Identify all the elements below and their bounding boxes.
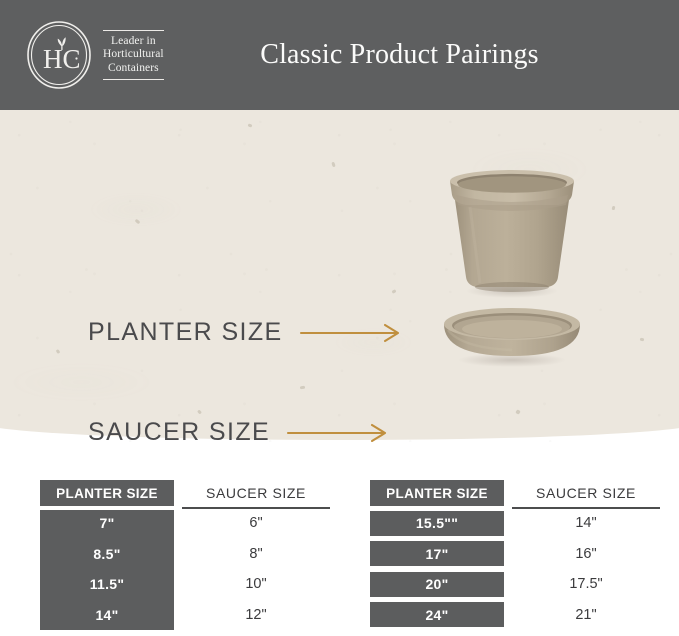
- tagline-line-2: Horticultural: [103, 48, 164, 62]
- cell-saucer-size: 8": [182, 546, 330, 562]
- table-row: 11.5" 10": [40, 569, 330, 600]
- tagline-line-1: Leader in: [103, 35, 164, 49]
- cell-saucer-size: 6": [182, 515, 330, 531]
- table-row: 17" 16": [370, 539, 660, 570]
- arrow-right-icon: [299, 322, 407, 344]
- cell-planter-size: 11.5": [40, 576, 174, 592]
- cell-planter-size: 17": [370, 546, 504, 562]
- saucer-dish-image: [432, 302, 592, 375]
- logo-oval-mark: HC: [24, 20, 94, 90]
- size-tables-section: PLANTER SIZE SAUCER SIZE 7" 6" 8.5" 8" 1…: [0, 442, 679, 636]
- cell-saucer-size: 12": [182, 607, 330, 623]
- cell-planter-size: 15.5"": [370, 515, 504, 531]
- product-pairings-infographic: HC Leader in Horticultural Containers Cl…: [0, 0, 679, 636]
- callout-label: SAUCER SIZE: [88, 418, 270, 442]
- cell-saucer-size: 10": [182, 576, 330, 592]
- brand-tagline: Leader in Horticultural Containers: [103, 30, 164, 81]
- column-header-planter-size: PLANTER SIZE: [370, 480, 504, 506]
- cell-planter-size: 14": [40, 607, 174, 623]
- tagline-line-3: Containers: [103, 62, 164, 76]
- hero-panel: PLANTER SIZE SAUCER SIZE: [0, 110, 679, 442]
- cell-saucer-size: 16": [512, 546, 660, 562]
- brand-logo: HC Leader in Horticultural Containers: [24, 20, 164, 90]
- arrow-right-icon: [286, 422, 394, 443]
- cell-planter-size: 20": [370, 576, 504, 592]
- table-row: 15.5"" 14": [370, 508, 660, 539]
- table-row: 24" 21": [370, 600, 660, 631]
- cell-saucer-size: 17.5": [512, 576, 660, 592]
- column-header-saucer-size: SAUCER SIZE: [512, 480, 660, 506]
- table-row: 14" 12": [40, 600, 330, 631]
- table-row: 7" 6": [40, 508, 330, 539]
- callout-saucer-size: SAUCER SIZE: [88, 418, 394, 442]
- planter-pot-image: [432, 165, 592, 305]
- table-row: 20" 17.5": [370, 569, 660, 600]
- hc-monogram-icon: HC: [24, 20, 94, 90]
- cell-planter-size: 24": [370, 607, 504, 623]
- cell-planter-size: 7": [40, 515, 174, 531]
- table-header-row: PLANTER SIZE SAUCER SIZE: [370, 480, 660, 508]
- header-bar: HC Leader in Horticultural Containers Cl…: [0, 0, 679, 110]
- callout-label: PLANTER SIZE: [88, 318, 283, 347]
- cell-saucer-size: 14": [512, 515, 660, 531]
- table-body: 15.5"" 14" 17" 16" 20" 17.5" 24" 21": [370, 508, 660, 630]
- callout-planter-size: PLANTER SIZE: [88, 318, 407, 347]
- size-table-small: PLANTER SIZE SAUCER SIZE 7" 6" 8.5" 8" 1…: [40, 480, 330, 630]
- cell-planter-size: 8.5": [40, 546, 174, 562]
- column-header-saucer-size: SAUCER SIZE: [182, 480, 330, 506]
- column-header-planter-size: PLANTER SIZE: [40, 480, 174, 506]
- size-table-large: PLANTER SIZE SAUCER SIZE 15.5"" 14" 17" …: [370, 480, 660, 630]
- cell-saucer-size: 21": [512, 607, 660, 623]
- table-header-row: PLANTER SIZE SAUCER SIZE: [40, 480, 330, 508]
- table-body: 7" 6" 8.5" 8" 11.5" 10" 14" 12": [40, 508, 330, 630]
- table-row: 8.5" 8": [40, 539, 330, 570]
- svg-text:HC: HC: [43, 44, 81, 74]
